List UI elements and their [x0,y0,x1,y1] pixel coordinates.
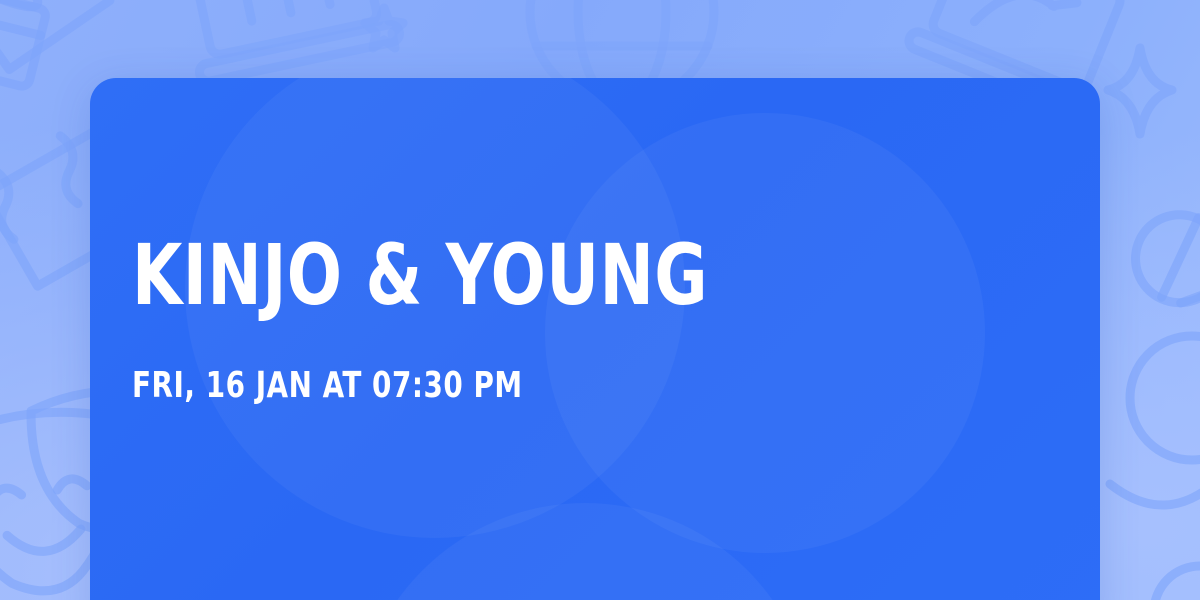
sparkle-icon [1108,48,1172,134]
ticket-icon [0,0,119,76]
event-card[interactable]: KINJO & YOUNG FRI, 16 JAN AT 07:30 PM [90,78,1100,600]
star-icon [365,8,403,48]
event-card-content: KINJO & YOUNG FRI, 16 JAN AT 07:30 PM [132,78,1100,600]
poster-canvas: KINJO & YOUNG FRI, 16 JAN AT 07:30 PM [0,0,1200,600]
laptop-presentation-icon [174,0,401,83]
event-title: KINJO & YOUNG [132,236,964,316]
event-datetime: FRI, 16 JAN AT 07:30 PM [132,365,964,406]
microphone-icon [1123,189,1200,361]
balloon-icon [1110,336,1200,600]
gift-icon [0,0,51,88]
